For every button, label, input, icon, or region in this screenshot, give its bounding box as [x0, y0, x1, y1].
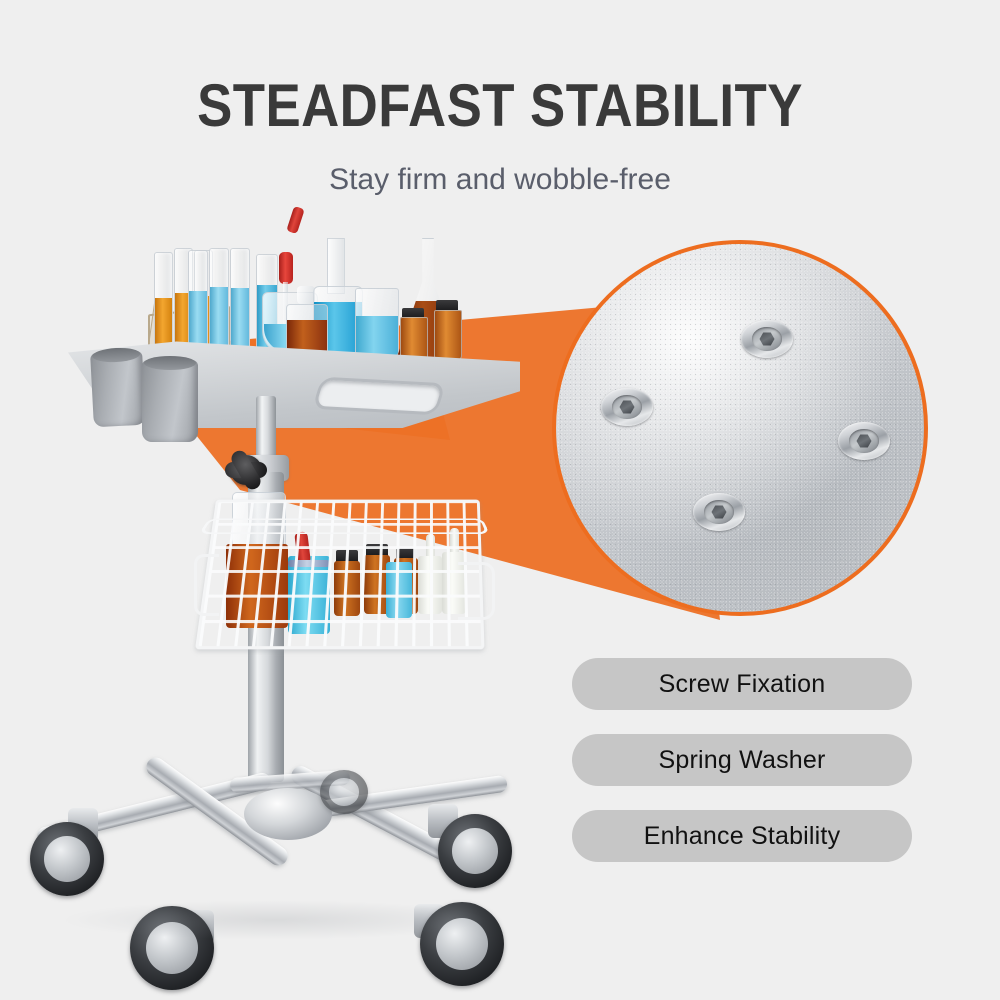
floor-shadow	[60, 900, 490, 940]
basket-hook-left	[194, 554, 219, 616]
feature-pill-enhance-stability[interactable]: Enhance Stability	[572, 810, 912, 862]
height-adjust-knob[interactable]	[230, 455, 262, 485]
feature-pill-spring-washer[interactable]: Spring Washer	[572, 734, 912, 786]
hex-screw-left	[601, 388, 653, 426]
rolling-lab-cart	[0, 0, 560, 1000]
feature-label: Spring Washer	[658, 746, 825, 775]
dropper-bulb-red	[279, 252, 293, 284]
cup-holder-1	[90, 351, 146, 428]
feature-label: Screw Fixation	[659, 670, 826, 699]
wire-basket	[200, 488, 488, 658]
base-hub	[244, 788, 332, 840]
product-marketing-image: STEADFAST STABILITY Stay firm and wobble…	[0, 0, 1000, 1000]
hex-screw-right	[838, 422, 890, 460]
caster-wheel-4	[438, 814, 512, 888]
cup-holder-2	[142, 360, 198, 442]
basket-hook-right	[458, 562, 495, 620]
screw-fixation-closeup	[552, 240, 928, 616]
basket-rim	[199, 518, 490, 534]
caster-wheel-1	[30, 822, 104, 896]
caster-wheel-5	[320, 770, 368, 814]
pipette-red-tip	[286, 206, 304, 234]
hex-screw-top	[741, 320, 793, 358]
feature-pill-screw-fixation[interactable]: Screw Fixation	[572, 658, 912, 710]
tray-handle-slot	[312, 377, 446, 416]
hex-screw-bottom	[693, 493, 745, 531]
feature-label: Enhance Stability	[644, 822, 841, 851]
feature-list: Screw Fixation Spring Washer Enhance Sta…	[572, 658, 912, 886]
